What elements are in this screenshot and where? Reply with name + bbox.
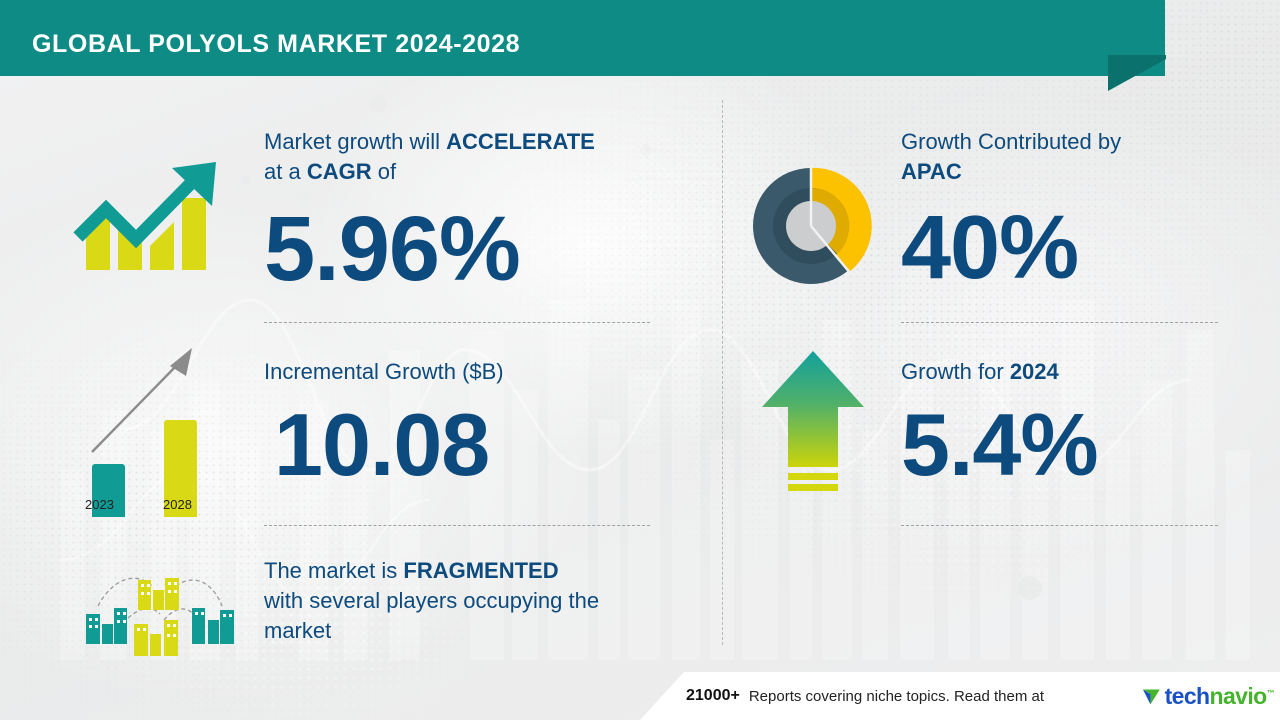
logo-trademark: ™ [1267, 688, 1274, 697]
growth-2024-label-year: 2024 [1010, 359, 1059, 384]
cagr-value: 5.96% [264, 203, 664, 295]
cagr-label-line1-bold: ACCELERATE [446, 129, 595, 154]
divider-left-1 [264, 322, 650, 323]
logo-text-navio: navio [1210, 683, 1267, 709]
fragmentation-line2: with several players occupying the [264, 588, 599, 613]
technavio-arrow-icon [1142, 685, 1163, 707]
technavio-logo[interactable]: technavio™ [1142, 681, 1274, 711]
metric-apac-contribution: Growth Contributed by APAC 40% [901, 127, 1231, 293]
metric-growth-2024: Growth for 2024 5.4% [901, 357, 1231, 489]
bar-label-2023: 2023 [85, 497, 114, 512]
city-network-icon [72, 562, 248, 666]
growth-2024-value: 5.4% [901, 401, 1231, 489]
footer-report-count: 21000+ [686, 687, 740, 705]
page-title: GLOBAL POLYOLS MARKET 2024-2028 [32, 30, 520, 59]
technavio-wordmark: technavio™ [1165, 685, 1274, 708]
comparison-bars-icon [70, 332, 240, 517]
header-banner: GLOBAL POLYOLS MARKET 2024-2028 [0, 0, 1165, 76]
divider-right-1 [901, 322, 1218, 323]
growth-2024-label-plain: Growth for [901, 359, 1010, 384]
divider-right-2 [901, 525, 1218, 526]
bar-label-2028: 2028 [163, 497, 192, 512]
apac-label-region: APAC [901, 159, 962, 184]
footer-tagline: Reports covering niche topics. Read them… [749, 688, 1044, 705]
cagr-label-line1-plain: Market growth will [264, 129, 446, 154]
incremental-growth-label: Incremental Growth ($B) [264, 357, 664, 387]
metric-cagr: Market growth will ACCELERATE at a CAGR … [264, 127, 664, 295]
footer-bar: 21000+ Reports covering niche topics. Re… [640, 672, 1280, 720]
fragmentation-text: The market is FRAGMENTED with several pl… [264, 556, 684, 646]
fragmentation-line3: market [264, 618, 331, 643]
cagr-label-line2-bold: CAGR [307, 159, 372, 184]
cagr-label: Market growth will ACCELERATE at a CAGR … [264, 127, 664, 187]
column-divider [722, 100, 723, 645]
divider-left-2 [264, 525, 650, 526]
growth-chart-icon [72, 140, 232, 300]
up-arrow-icon [758, 345, 868, 505]
apac-label: Growth Contributed by APAC [901, 127, 1231, 187]
apac-value: 40% [901, 203, 1231, 293]
metric-fragmentation: The market is FRAGMENTED with several pl… [264, 556, 684, 646]
fragmentation-line1-bold: FRAGMENTED [403, 558, 558, 583]
apac-label-line1: Growth Contributed by [901, 129, 1121, 154]
donut-chart-icon [745, 160, 877, 292]
cagr-label-line2-plain-b: of [372, 159, 396, 184]
metric-incremental-growth: Incremental Growth ($B) 10.08 [264, 357, 664, 489]
logo-text-tech: tech [1165, 683, 1210, 709]
fragmentation-line1-plain: The market is [264, 558, 403, 583]
cagr-label-line2-plain-a: at a [264, 159, 307, 184]
incremental-growth-value: 10.08 [274, 401, 664, 489]
growth-2024-label: Growth for 2024 [901, 357, 1231, 387]
header-fold-corner [1108, 55, 1166, 91]
